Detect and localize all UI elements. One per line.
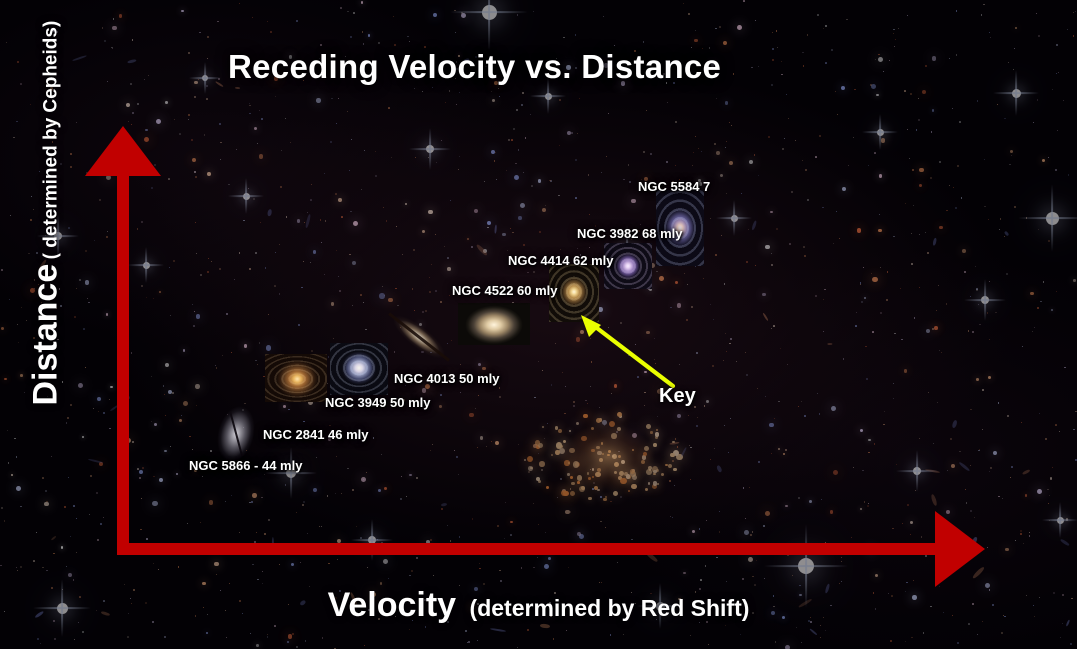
y-axis-arrowhead-icon [85,126,161,176]
chart-title: Receding Velocity vs. Distance [228,48,721,86]
x-axis-label-sub: (determined by Red Shift) [470,595,750,621]
y-axis-label: Distance ( determined by Cepheids) [27,106,66,406]
x-axis-arrowhead-icon [935,511,985,587]
data-label-ngc5866: NGC 5866 - 44 mly [189,458,302,473]
x-axis-label: Velocity (determined by Red Shift) [0,586,1077,625]
galaxy-thumbnail-ngc4013 [388,306,450,368]
y-axis-label-sub: ( determined by Cepheids) [41,21,62,260]
x-axis-label-main: Velocity [328,586,457,624]
y-axis-line [117,168,129,555]
data-label-ngc4522: NGC 4522 60 mly [452,283,558,298]
galaxy-thumbnail-ngc2841 [265,354,327,402]
galaxy-thumbnail-ngc3949 [330,343,388,395]
data-label-ngc4414: NGC 4414 62 mly [508,253,614,268]
data-label-ngc3949: NGC 3949 50 mly [325,395,431,410]
data-label-ngc4013: NGC 4013 50 mly [394,371,500,386]
chart-canvas: Receding Velocity vs. Distance Distance … [0,0,1077,649]
data-label-ngc3982: NGC 3982 68 mly [577,226,683,241]
y-axis-label-main: Distance [27,264,65,406]
galaxy-thumbnail-ngc4522 [458,303,530,345]
key-annotation-label: Key [659,385,696,408]
data-label-ngc2841: NGC 2841 46 mly [263,427,369,442]
data-label-ngc5584: NGC 5584 7 [638,179,710,194]
galaxy-cluster-glow [540,400,700,520]
x-axis-line [117,543,943,555]
key-arrow-icon [575,312,680,392]
